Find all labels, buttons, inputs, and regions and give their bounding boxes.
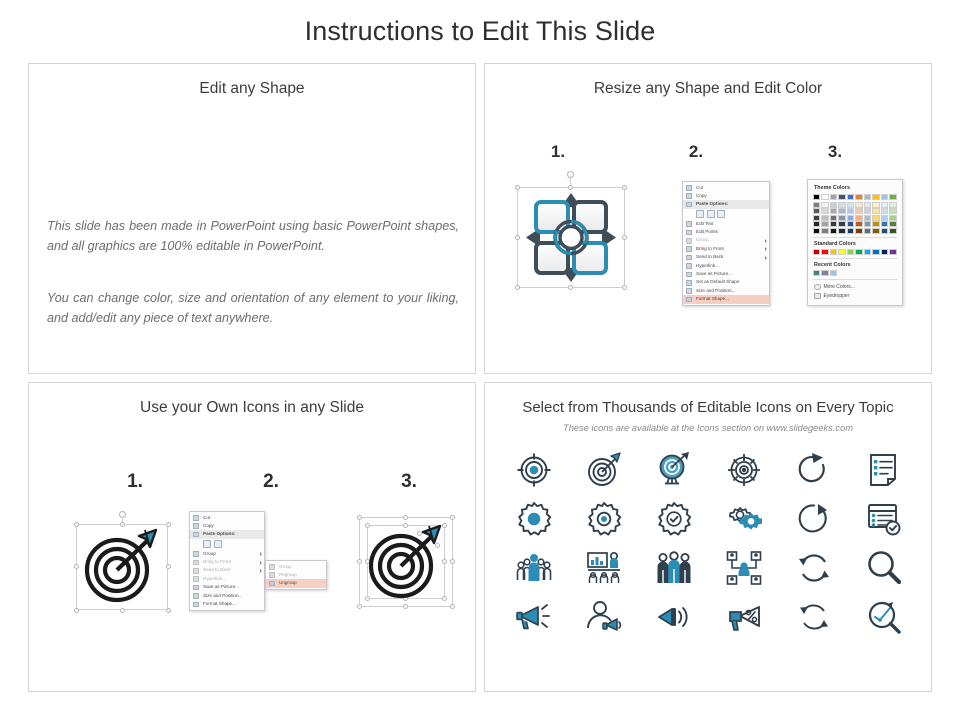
menu-item-hyperlink[interactable]: Hyperlink... xyxy=(683,262,769,270)
theme-tint-swatch[interactable] xyxy=(881,215,888,221)
theme-tint-swatch[interactable] xyxy=(830,215,837,221)
theme-tint-swatch[interactable] xyxy=(838,215,845,221)
theme-tint-swatch[interactable] xyxy=(813,221,820,227)
menu-item-group: Group xyxy=(266,563,326,571)
standard-color-swatch[interactable] xyxy=(830,249,837,255)
theme-tint-swatch[interactable] xyxy=(864,221,871,227)
dartboard-ungrouped-stage[interactable] xyxy=(351,511,461,615)
panel-use-own-icons: Use your Own Icons in any Slide 1. 2. 3. xyxy=(28,382,476,692)
leader-group-icon[interactable] xyxy=(514,548,554,588)
paste-options-row[interactable] xyxy=(683,209,769,220)
paste-options-row[interactable] xyxy=(190,539,264,550)
panel-resize-shape-edit-color: Resize any Shape and Edit Color 1. 2. 3. xyxy=(484,63,932,374)
person-megaphone-icon[interactable] xyxy=(584,597,624,637)
refresh-circle-icon[interactable] xyxy=(794,499,834,539)
standard-color-swatch[interactable] xyxy=(864,249,871,255)
theme-tint-swatch[interactable] xyxy=(813,228,820,234)
submenu-arrow-icon xyxy=(260,569,262,573)
four-quadrant-shape-icon xyxy=(517,187,625,288)
menu-item-paste-options[interactable]: Paste Options: xyxy=(683,200,769,208)
theme-color-swatch[interactable] xyxy=(821,194,828,200)
eyedropper-label: Eyedropper xyxy=(824,293,850,299)
theme-tint-swatch[interactable] xyxy=(838,202,845,208)
menu-item-paste-options[interactable]: Paste Options: xyxy=(190,530,264,538)
eyedropper-button[interactable]: Eyedropper xyxy=(813,292,897,301)
menu-item-group[interactable]: Group xyxy=(190,550,264,558)
theme-tint-swatch[interactable] xyxy=(847,202,854,208)
menu-item-label: Hyperlink... xyxy=(696,263,719,268)
speaker-sound-icon[interactable] xyxy=(654,597,694,637)
theme-tint-swatch[interactable] xyxy=(889,228,896,234)
theme-tint-swatch[interactable] xyxy=(855,221,862,227)
menu-item-label: Group xyxy=(279,564,292,569)
theme-tint-swatch[interactable] xyxy=(830,221,837,227)
panel-title-edit-shape: Edit any Shape xyxy=(29,80,475,98)
standard-color-swatch[interactable] xyxy=(838,249,845,255)
theme-tint-swatch[interactable] xyxy=(864,228,871,234)
panel-select-icons: Select from Thousands of Editable Icons … xyxy=(484,382,932,692)
color-picker-panel[interactable]: Theme Colors Standard Colors Recent Colo… xyxy=(807,179,903,306)
menu-item-label: Copy xyxy=(203,523,214,528)
theme-tint-swatch[interactable] xyxy=(881,202,888,208)
theme-tint-swatch[interactable] xyxy=(881,221,888,227)
menu-item-label: Edit Points xyxy=(696,229,718,234)
menu-item-label: Regroup xyxy=(279,572,297,577)
standard-color-swatch[interactable] xyxy=(821,249,828,255)
save-picture-icon xyxy=(193,585,199,591)
theme-tint-swatch[interactable] xyxy=(855,228,862,234)
theme-tint-swatch[interactable] xyxy=(864,202,871,208)
menu-item-copy[interactable]: Copy xyxy=(683,192,769,200)
paste-icon xyxy=(193,532,199,538)
hyperlink-icon xyxy=(686,263,692,269)
paste-option-button[interactable] xyxy=(214,540,222,548)
theme-color-swatch[interactable] xyxy=(838,194,845,200)
group-icon xyxy=(269,564,275,570)
menu-item-size-and-position[interactable]: Size and Position... xyxy=(190,592,264,600)
menu-item-size-and-position[interactable]: Size and Position... xyxy=(683,287,769,295)
theme-tint-swatch[interactable] xyxy=(872,202,879,208)
theme-tint-swatch[interactable] xyxy=(855,215,862,221)
menu-item-set-as-default-shape[interactable]: Set as Default Shape xyxy=(683,278,769,286)
menu-item-label: Format Shape... xyxy=(696,296,729,301)
own-icons-step-number-2: 2. xyxy=(251,471,291,493)
menu-item-hyperlink: Hyperlink... xyxy=(190,575,264,583)
resize-step-number-1: 1. xyxy=(538,142,578,162)
menu-item-cut[interactable]: Cut xyxy=(683,184,769,192)
standard-color-swatch[interactable] xyxy=(889,249,896,255)
paste-option-button[interactable] xyxy=(717,210,725,218)
recent-colors-label: Recent Colors xyxy=(814,262,897,268)
panel-title-resize-shape: Resize any Shape and Edit Color xyxy=(485,80,931,98)
menu-item-save-as-picture[interactable]: Save as Picture... xyxy=(190,583,264,591)
standard-color-swatch[interactable] xyxy=(813,249,820,255)
menu-item-label: Cut xyxy=(696,185,703,190)
menu-item-label: Bring to Front xyxy=(696,246,724,251)
submenu-arrow-icon xyxy=(260,561,262,565)
dartboard-arrow-icon[interactable] xyxy=(584,450,624,490)
paste-option-button[interactable] xyxy=(203,540,211,548)
theme-color-swatch[interactable] xyxy=(847,194,854,200)
theme-tint-swatch[interactable] xyxy=(813,215,820,221)
menu-item-ungroup[interactable]: Ungroup xyxy=(266,579,326,587)
panel-edit-any-shape: Edit any Shape This slide has been made … xyxy=(28,63,476,374)
menu-item-edit-text[interactable]: Edit Text xyxy=(683,220,769,228)
theme-tint-swatch[interactable] xyxy=(821,202,828,208)
menu-item-label: Group xyxy=(203,551,216,556)
resize-step-number-2: 2. xyxy=(676,142,716,162)
theme-tint-swatch[interactable] xyxy=(855,202,862,208)
theme-color-swatch[interactable] xyxy=(855,194,862,200)
eyedropper-icon xyxy=(814,293,821,300)
send-back-icon xyxy=(686,255,692,261)
menu-item-label: Hyperlink... xyxy=(203,576,226,581)
resize-step-number-3: 3. xyxy=(815,142,855,162)
more-colors-icon xyxy=(814,284,821,291)
menu-item-format-shape[interactable]: Format Shape... xyxy=(190,600,264,608)
theme-tint-swatch[interactable] xyxy=(847,208,854,214)
submenu-arrow-icon xyxy=(765,239,767,243)
menu-item-label: Paste Options: xyxy=(203,531,235,536)
group-icon xyxy=(686,238,692,244)
theme-tint-swatch[interactable] xyxy=(813,208,820,214)
page-title: Instructions to Edit This Slide xyxy=(0,16,960,47)
scissors-icon xyxy=(686,185,692,191)
menu-item-bring-to-front: Bring to Front xyxy=(190,558,264,566)
gear-filled-icon[interactable] xyxy=(514,499,554,539)
theme-tint-swatch[interactable] xyxy=(889,208,896,214)
theme-tint-swatch[interactable] xyxy=(821,228,828,234)
theme-tint-swatch[interactable] xyxy=(830,228,837,234)
size-position-icon xyxy=(193,593,199,599)
rotation-handle-dartboard[interactable] xyxy=(119,511,126,518)
menu-item-label: Paste Options: xyxy=(696,201,728,206)
format-shape-icon xyxy=(193,602,199,608)
copy-icon xyxy=(686,193,692,199)
theme-tint-swatch[interactable] xyxy=(847,215,854,221)
dartboard-arrow-ungrouped-icon xyxy=(359,517,453,607)
recent-color-swatch[interactable] xyxy=(813,270,820,276)
menu-item-label: Ungroup xyxy=(279,580,297,585)
refresh-clockwise-icon[interactable] xyxy=(794,450,834,490)
theme-color-swatch[interactable] xyxy=(889,194,896,200)
menu-item-bring-to-front[interactable]: Bring to Front xyxy=(683,245,769,253)
standard-color-swatch[interactable] xyxy=(847,249,854,255)
team-three-icon[interactable] xyxy=(654,548,694,588)
menu-item-send-to-back[interactable]: Send to Back xyxy=(683,253,769,261)
ungroup-icon xyxy=(269,581,275,587)
standard-colors-label: Standard Colors xyxy=(814,241,897,247)
submenu-arrow-icon xyxy=(765,247,767,251)
menu-item-label: Copy xyxy=(696,193,707,198)
menu-item-label: Size and Position... xyxy=(696,288,735,293)
menu-item-label: Send to Back xyxy=(203,567,230,572)
menu-item-cut[interactable]: Cut xyxy=(190,514,264,522)
magnifier-target-icon[interactable] xyxy=(864,597,904,637)
edit-shape-paragraph-1: This slide has been made in PowerPoint u… xyxy=(47,216,459,256)
theme-tint-swatch[interactable] xyxy=(864,215,871,221)
menu-item-copy[interactable]: Copy xyxy=(190,522,264,530)
menu-item-label: Set as Default Shape xyxy=(696,279,739,284)
recent-color-swatch[interactable] xyxy=(821,270,828,276)
group-icon xyxy=(193,551,199,557)
own-icons-step-number-1: 1. xyxy=(115,471,155,493)
double-gear-icon[interactable] xyxy=(724,499,764,539)
bring-front-icon xyxy=(686,246,692,252)
theme-color-swatch[interactable] xyxy=(813,194,820,200)
theme-color-swatch[interactable] xyxy=(830,194,837,200)
theme-tint-swatch[interactable] xyxy=(872,228,879,234)
submenu-arrow-icon xyxy=(765,256,767,260)
menu-item-label: Group xyxy=(696,237,709,242)
theme-tint-swatch[interactable] xyxy=(889,202,896,208)
regroup-icon xyxy=(269,572,275,578)
theme-tint-swatch[interactable] xyxy=(847,228,854,234)
gear-check-icon[interactable] xyxy=(654,499,694,539)
menu-item-edit-points[interactable]: Edit Points xyxy=(683,228,769,236)
theme-tint-swatch[interactable] xyxy=(855,208,862,214)
crosshair-scope-icon[interactable] xyxy=(724,450,764,490)
icon-context-menu[interactable]: CutCopyPaste Options:GroupBring to Front… xyxy=(189,511,265,611)
theme-color-swatch[interactable] xyxy=(881,194,888,200)
theme-tint-swatch[interactable] xyxy=(872,208,879,214)
menu-item-save-as-picture[interactable]: Save as Picture... xyxy=(683,270,769,278)
submenu-arrow-icon xyxy=(260,552,262,556)
size-position-icon xyxy=(686,288,692,294)
theme-tint-swatch[interactable] xyxy=(872,215,879,221)
report-check-icon[interactable] xyxy=(864,499,904,539)
theme-tint-swatch[interactable] xyxy=(847,221,854,227)
theme-tint-swatch[interactable] xyxy=(889,215,896,221)
paste-icon xyxy=(686,202,692,208)
theme-tint-swatch[interactable] xyxy=(872,221,879,227)
save-picture-icon xyxy=(686,272,692,278)
default-shape-icon xyxy=(686,280,692,286)
sync-arrows-thin-icon[interactable] xyxy=(794,597,834,637)
menu-item-label: Format Shape... xyxy=(203,601,236,606)
menu-item-label: Save as Picture... xyxy=(203,584,239,589)
crosshair-target-filled-icon[interactable] xyxy=(514,450,554,490)
slide-root: Instructions to Edit This Slide Edit any… xyxy=(0,0,960,720)
format-shape-icon xyxy=(686,297,692,303)
icon-gallery-grid xyxy=(499,445,919,641)
send-back-icon xyxy=(193,568,199,574)
edit-text-icon xyxy=(686,221,692,227)
edit-points-icon xyxy=(686,230,692,236)
menu-item-label: Edit Text xyxy=(696,221,714,226)
scissors-icon xyxy=(193,515,199,521)
theme-tint-swatch[interactable] xyxy=(830,208,837,214)
menu-item-label: Cut xyxy=(203,515,210,520)
standard-colors-row[interactable] xyxy=(813,249,897,255)
paste-option-button[interactable] xyxy=(696,210,704,218)
menu-item-label: Size and Position... xyxy=(203,593,242,598)
menu-item-label: Bring to Front xyxy=(203,559,231,564)
presentation-audience-icon[interactable] xyxy=(584,548,624,588)
menu-item-label: Save as Picture... xyxy=(696,271,732,276)
megaphone-percent-icon[interactable] xyxy=(724,597,764,637)
theme-tint-swatch[interactable] xyxy=(838,221,845,227)
group-submenu[interactable]: GroupRegroupUngroup xyxy=(265,560,327,590)
recent-color-swatch[interactable] xyxy=(830,270,837,276)
panel-title-own-icons: Use your Own Icons in any Slide xyxy=(29,399,475,417)
menu-item-format-shape[interactable]: Format Shape... xyxy=(683,295,769,303)
panel-subtitle-select-icons: These icons are available at the Icons s… xyxy=(485,423,931,433)
theme-tint-swatch[interactable] xyxy=(838,228,845,234)
shape-selection-stage[interactable] xyxy=(513,176,629,292)
org-hierarchy-icon[interactable] xyxy=(724,548,764,588)
theme-tint-swatch[interactable] xyxy=(838,208,845,214)
menu-item-regroup: Regroup xyxy=(266,571,326,579)
sync-arrows-icon[interactable] xyxy=(794,548,834,588)
theme-color-swatch[interactable] xyxy=(872,194,879,200)
theme-color-swatch[interactable] xyxy=(864,194,871,200)
theme-tint-swatch[interactable] xyxy=(821,221,828,227)
menu-item-label: Send to Back xyxy=(696,254,723,259)
dartboard-grouped-stage[interactable] xyxy=(73,515,173,615)
theme-tint-swatch[interactable] xyxy=(889,221,896,227)
dartboard-arrow-grouped-icon xyxy=(76,524,168,610)
standard-color-swatch[interactable] xyxy=(881,249,888,255)
magnifier-icon[interactable] xyxy=(864,548,904,588)
standard-color-swatch[interactable] xyxy=(872,249,879,255)
theme-tint-swatch[interactable] xyxy=(830,202,837,208)
target-stand-arrow-icon[interactable] xyxy=(654,450,694,490)
edit-shape-paragraph-2: You can change color, size and orientati… xyxy=(47,288,459,328)
panel-title-select-icons: Select from Thousands of Editable Icons … xyxy=(485,399,931,416)
shape-context-menu[interactable]: CutCopyPaste Options:Edit TextEdit Point… xyxy=(682,181,770,306)
theme-tint-swatch[interactable] xyxy=(864,208,871,214)
checklist-document-icon[interactable] xyxy=(864,450,904,490)
paste-option-button[interactable] xyxy=(707,210,715,218)
theme-tint-swatch[interactable] xyxy=(881,228,888,234)
own-icons-step-number-3: 3. xyxy=(389,471,429,493)
more-colors-button[interactable]: More Colors... xyxy=(813,283,897,292)
theme-tint-swatch[interactable] xyxy=(821,215,828,221)
menu-item-send-to-back: Send to Back xyxy=(190,566,264,574)
gear-dot-icon[interactable] xyxy=(584,499,624,539)
theme-colors-grid[interactable] xyxy=(813,194,897,235)
theme-tint-swatch[interactable] xyxy=(881,208,888,214)
bring-front-icon xyxy=(193,560,199,566)
theme-colors-label: Theme Colors xyxy=(814,185,897,191)
recent-colors-row[interactable] xyxy=(813,270,897,276)
menu-item-group: Group xyxy=(683,236,769,244)
hyperlink-icon xyxy=(193,576,199,582)
theme-tint-swatch[interactable] xyxy=(813,202,820,208)
more-colors-label: More Colors... xyxy=(824,284,855,290)
rotation-handle[interactable] xyxy=(567,171,574,178)
standard-color-swatch[interactable] xyxy=(855,249,862,255)
copy-icon xyxy=(193,523,199,529)
megaphone-icon[interactable] xyxy=(514,597,554,637)
theme-tint-swatch[interactable] xyxy=(821,208,828,214)
